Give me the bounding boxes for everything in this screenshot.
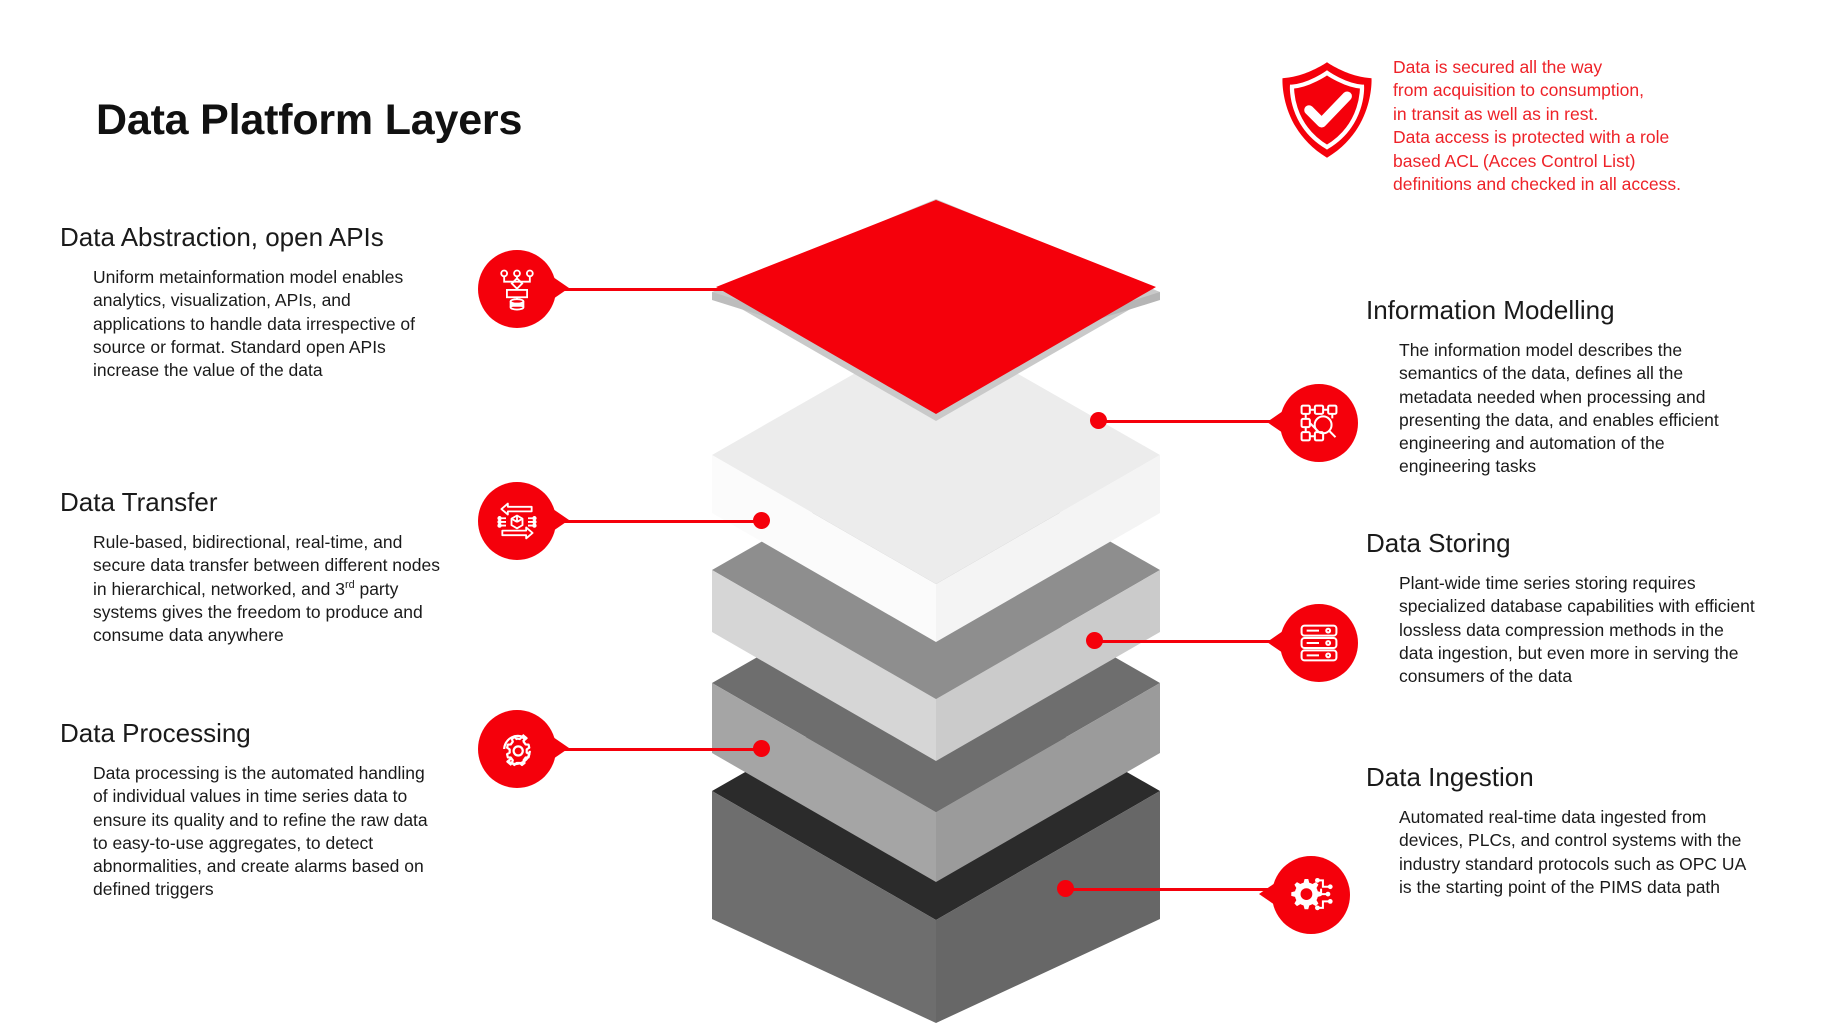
security-note-line: from acquisition to consumption, (1393, 79, 1753, 102)
block-title: Information Modelling (1366, 295, 1758, 326)
security-note-line: Data is secured all the way (1393, 56, 1753, 79)
server-rack-icon[interactable] (1280, 604, 1358, 682)
node-graph-search-icon[interactable] (1280, 384, 1358, 462)
block-title: Data Ingestion (1366, 762, 1758, 793)
block-title: Data Processing (60, 718, 442, 749)
connector-line-storing (1095, 640, 1285, 643)
gear-circuit-icon[interactable] (1272, 856, 1350, 934)
connector-dot-storing (1086, 632, 1103, 649)
security-note-line: based ACL (Acces Control List) (1393, 150, 1753, 173)
connector-dot-transfer (753, 512, 770, 529)
connector-dot-ingestion (1057, 880, 1074, 897)
block-data-processing: Data Processing Data processing is the a… (60, 718, 442, 902)
security-note-line: definitions and checked in all access. (1393, 173, 1753, 196)
connector-line-ingestion (1065, 888, 1280, 891)
slide-canvas: Data Platform Layers Data is secured all… (0, 0, 1821, 1024)
layer-abstraction (712, 199, 1160, 421)
security-note-line: Data access is protected with a role (1393, 126, 1753, 149)
security-note-line: in transit as well as in rest. (1393, 103, 1753, 126)
block-data-abstraction: Data Abstraction, open APIs Uniform meta… (60, 222, 442, 382)
block-data-transfer: Data Transfer Rule-based, bidirectional,… (60, 487, 442, 647)
block-title: Data Storing (1366, 528, 1758, 559)
ordinal-suffix: rd (345, 579, 355, 591)
connector-dot-processing (753, 740, 770, 757)
block-title: Data Abstraction, open APIs (60, 222, 442, 253)
gear-refresh-icon[interactable] (478, 710, 556, 788)
connector-line-modelling (1097, 420, 1287, 423)
block-body: Uniform metainformation model enables an… (60, 266, 442, 382)
block-data-ingestion: Data Ingestion Automated real-time data … (1366, 762, 1758, 899)
connector-line-processing (545, 748, 760, 751)
layer-processing (712, 555, 1160, 882)
layer-modelling (712, 327, 1160, 642)
block-body: Plant-wide time series storing requires … (1366, 572, 1758, 688)
page-title: Data Platform Layers (96, 96, 522, 145)
block-body: Data processing is the automated handlin… (60, 762, 442, 902)
block-body: The information model describes the sema… (1366, 339, 1758, 479)
connector-line-transfer (545, 520, 760, 523)
shield-check-icon (1274, 57, 1380, 163)
block-information-modelling: Information Modelling The information mo… (1366, 295, 1758, 479)
block-data-storing: Data Storing Plant-wide time series stor… (1366, 528, 1758, 688)
connector-line-abstraction (545, 288, 725, 291)
layer-transfer (712, 442, 1160, 761)
api-tree-database-icon[interactable] (478, 250, 556, 328)
block-body: Automated real-time data ingested from d… (1366, 806, 1758, 899)
block-body: Rule-based, bidirectional, real-time, an… (60, 531, 442, 647)
layer-ingestion (712, 663, 1160, 1023)
security-note: Data is secured all the way from acquisi… (1393, 56, 1753, 197)
bidirectional-transfer-icon[interactable] (478, 482, 556, 560)
connector-dot-modelling (1090, 412, 1107, 429)
block-title: Data Transfer (60, 487, 442, 518)
